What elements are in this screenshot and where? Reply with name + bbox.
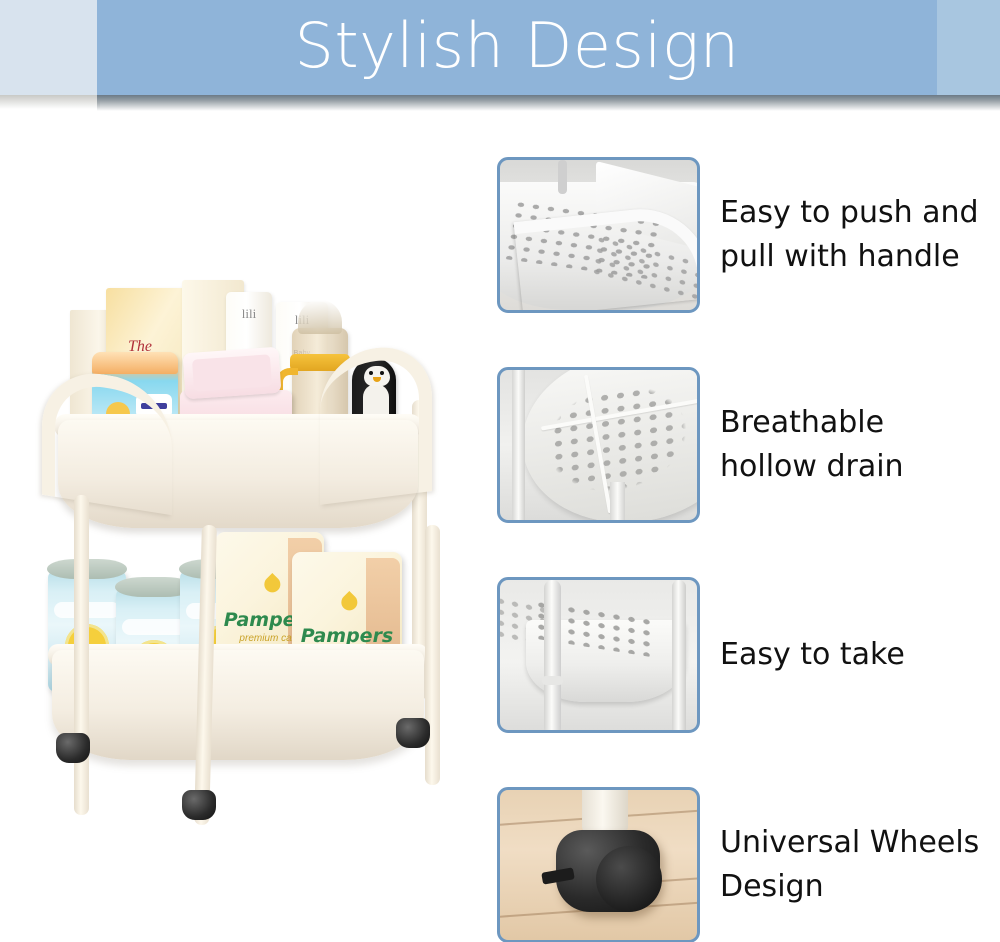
cart-bottom-shelf [52,650,424,760]
tube-brand-text: lili [226,306,272,322]
diaper-pack-1-heart-icon [261,573,284,596]
thumb-wheel-face [596,846,662,912]
banner-main: Stylish Design [97,0,937,95]
feature-label-handle: Easy to push and pull with handle [720,191,982,279]
utility-cart: The lili Baby Cream lili Baby [30,270,460,830]
feature-item-handle: Easy to push and pull with handle [497,157,987,313]
thumb-center-stem [610,482,625,520]
feature-thumbnail-drain [497,367,700,523]
feature-thumbnail-handle [497,157,700,313]
thumb-cart-leg [582,787,628,832]
thumb-center-post [558,160,567,194]
cart-wheel-right [396,718,430,748]
wipes-box-lid-inner [192,354,272,391]
thumb-handle-rail [514,202,700,313]
feature-label-drain: Breathable hollow drain [720,401,982,489]
banner-shadow-left [0,95,100,109]
product-feature-page: Stylish Design The lili Baby Cream lili … [0,0,1000,942]
thumb-caster-brake [541,867,575,884]
thumb-side-pole [512,370,525,523]
cart-wheel-front [182,790,216,820]
page-title: Stylish Design [294,15,739,77]
banner-right-strip [937,0,1000,95]
hero-product-image: The lili Baby Cream lili Baby [30,270,460,830]
formula-can-lid [92,352,178,374]
banner-left-strip [0,0,97,95]
formula-can-2-band [122,619,186,635]
feature-list: Easy to push and pull with handle Breath… [497,157,987,942]
bottle-cap [298,300,342,334]
feature-item-take: Easy to take [497,577,987,733]
banner-shadow [97,95,1000,111]
thumb-pole-ring [542,676,563,685]
diaper-pack-2-heart-icon [338,591,361,614]
feature-thumbnail-take [497,577,700,733]
thumb-right-pole [672,580,686,733]
feature-thumbnail-wheels [497,787,700,942]
feature-item-drain: Breathable hollow drain [497,367,987,523]
wipes-box-lid [183,347,282,400]
thumb-front-pole [544,580,561,733]
feature-label-take: Easy to take [720,633,905,677]
cart-wheel-left [56,733,90,763]
cart-post-front-right [425,525,440,785]
header-banner: Stylish Design [0,0,1000,112]
thumb-caster-wheel [556,830,660,912]
cart-post-front-left [74,495,89,815]
feature-item-wheels: Universal Wheels Design [497,787,987,942]
feature-label-wheels: Universal Wheels Design [720,821,982,909]
